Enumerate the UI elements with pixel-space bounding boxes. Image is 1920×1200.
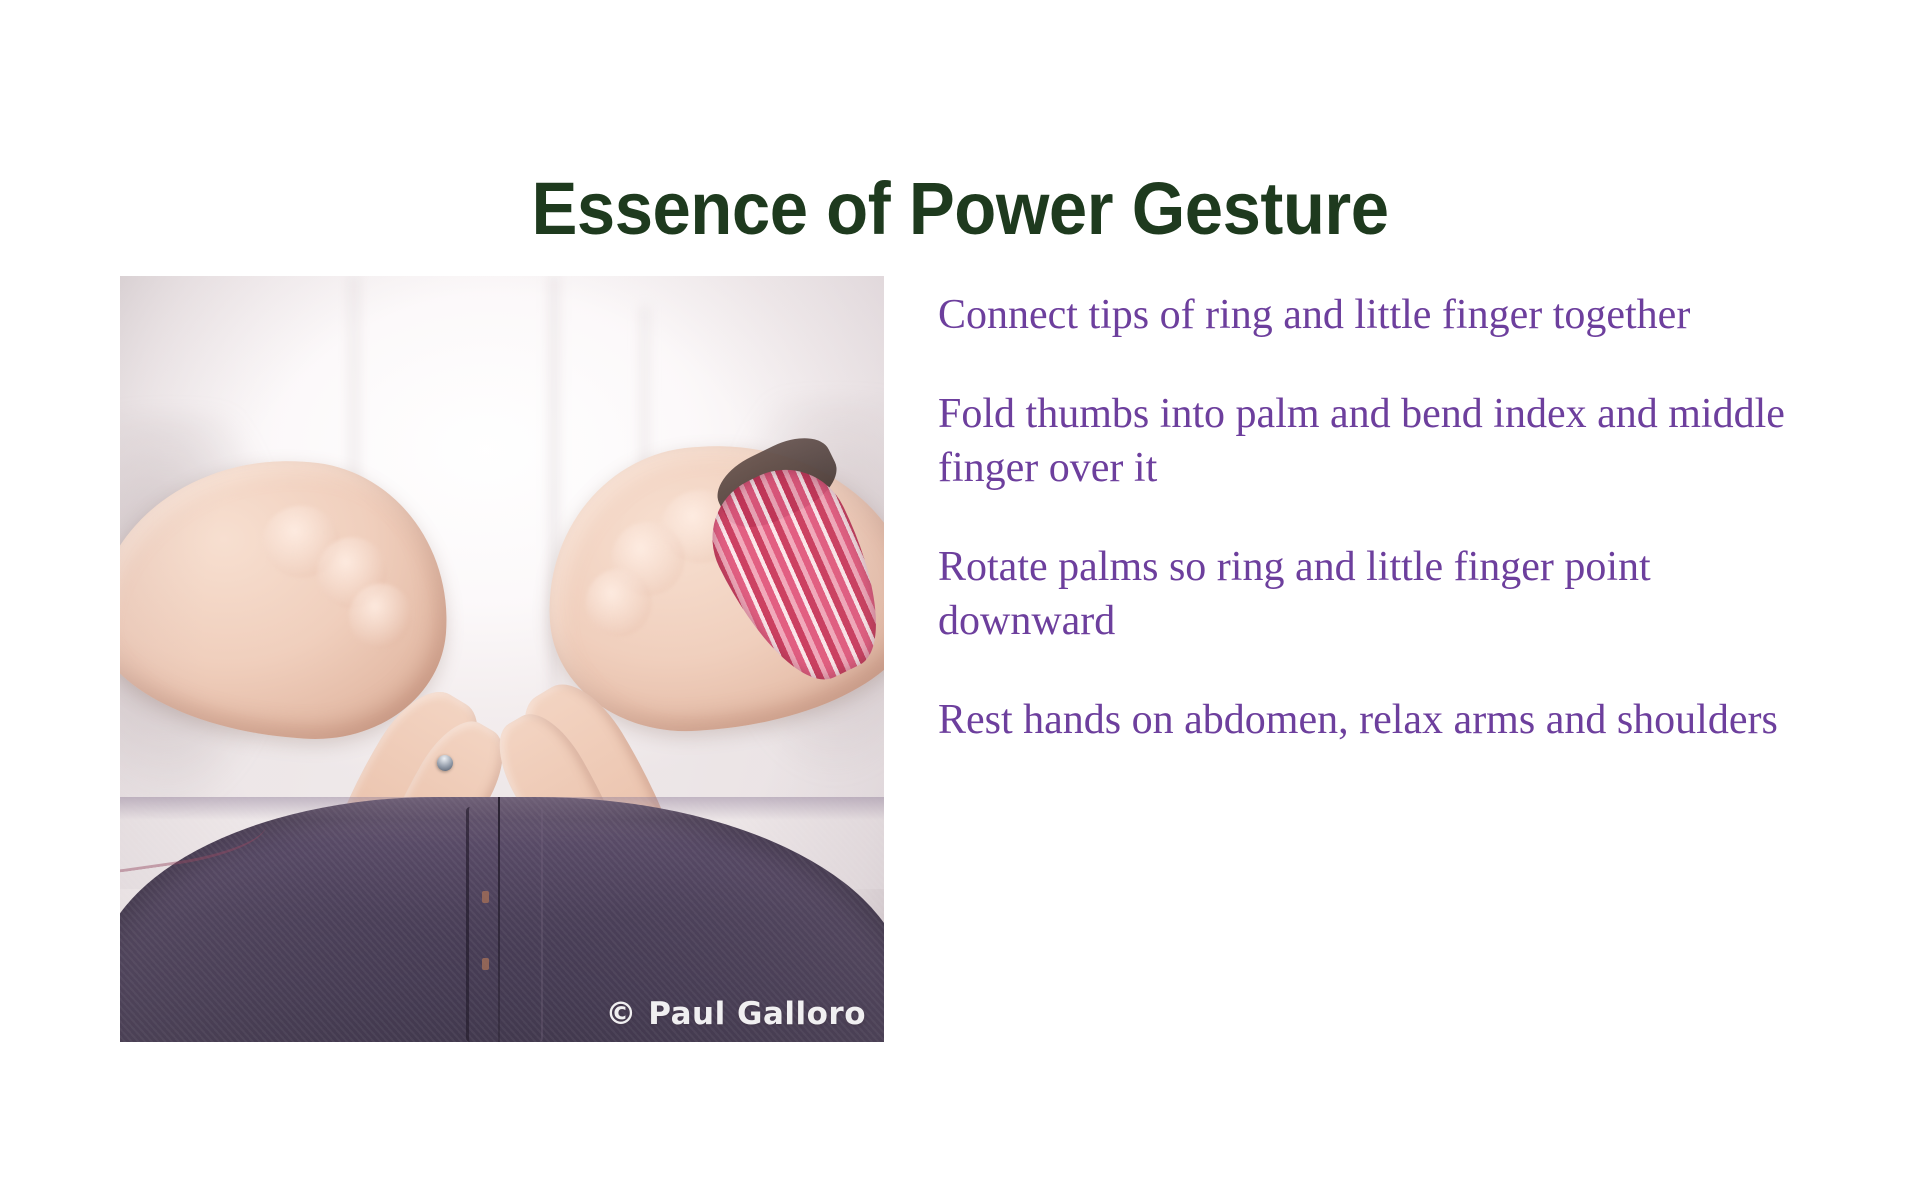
list-item: Rotate palms so ring and little finger p… [938, 540, 1818, 649]
page-title: Essence of Power Gesture [67, 170, 1853, 248]
instruction-list: Connect tips of ring and little finger t… [938, 288, 1838, 748]
photo-watermark: © Paul Galloro [605, 996, 866, 1032]
photo-jeans-rivet-2 [482, 958, 489, 970]
list-item: Connect tips of ring and little finger t… [938, 288, 1818, 343]
photo-jeans-rivet-1 [482, 891, 489, 903]
list-item: Rest hands on abdomen, relax arms and sh… [938, 693, 1818, 748]
photo-jeans-seam [498, 797, 500, 1042]
gesture-photo: © Paul Galloro [120, 276, 884, 1042]
photo-shirt-fold-2 [548, 276, 560, 751]
photo-jeans-fly [466, 807, 544, 1041]
list-item: Fold thumbs into palm and bend index and… [938, 387, 1818, 496]
slide-canvas: Essence of Power Gesture [0, 0, 1920, 1200]
